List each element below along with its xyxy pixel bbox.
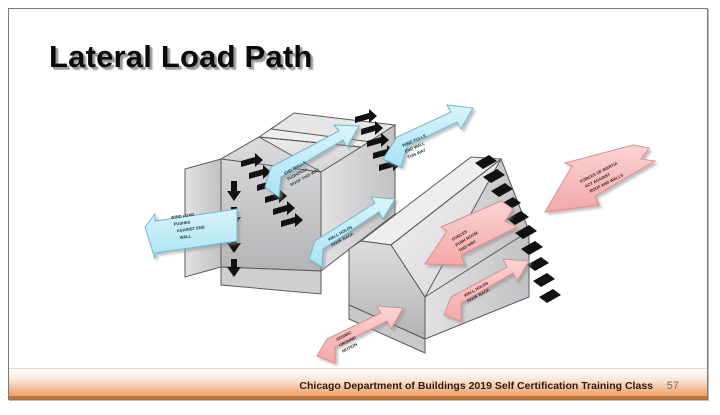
footer-course-text: Chicago Department of Buildings 2019 Sel…: [299, 380, 653, 392]
slide-footer-bar: Chicago Department of Buildings 2019 Sel…: [9, 368, 707, 399]
slide-page-number: 57: [667, 380, 679, 392]
slide-canvas: Lateral Load Path: [8, 8, 708, 400]
lateral-load-path-diagram: WIND LOAD PUSHES AGAINST END WALL END WA…: [9, 9, 708, 400]
arrow-wind-pulls-end-wall: [383, 105, 473, 167]
